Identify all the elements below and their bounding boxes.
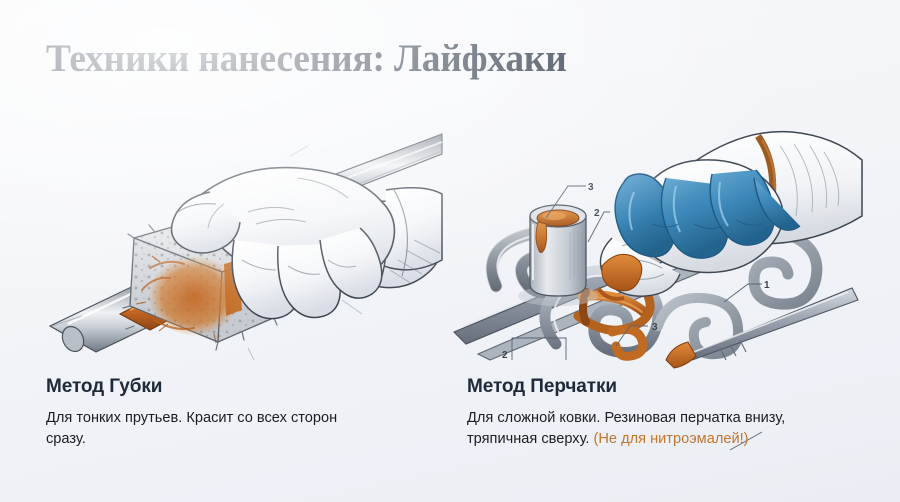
paint-can [518, 205, 598, 306]
slide-root: Техники нанесения: Лайфхаки [0, 0, 900, 502]
illustration-sponge-method [42, 120, 442, 360]
caption-body-glove: Для сложной ковки. Резиновая перчатка вн… [467, 408, 859, 451]
caption-glove-method: Метод Перчатки Для сложной ковки. Резино… [467, 377, 867, 451]
callout-3-bottom: 3 [652, 322, 658, 333]
callout-2-top: 2 [594, 208, 600, 219]
caption-warning-glove: (Не для нитроэмалей!) [594, 431, 749, 447]
gloved-hand-wiping [598, 132, 862, 299]
page-title: Техники нанесения: Лайфхаки [46, 36, 567, 81]
callout-2-bottom: 2 [502, 350, 508, 361]
caption-heading-sponge: Метод Губки [46, 377, 446, 398]
caption-body-sponge: Для тонких прутьев. Красит со всех сторо… [46, 408, 366, 451]
caption-sponge-method: Метод Губки Для тонких прутьев. Красит с… [46, 377, 446, 451]
sponge-method-drawing [42, 120, 442, 360]
caption-heading-glove: Метод Перчатки [467, 377, 867, 398]
illustration-glove-method: 3 2 1 3 2 [462, 120, 862, 360]
callout-3-top: 3 [588, 182, 594, 193]
callout-1: 1 [764, 280, 770, 291]
glove-method-drawing: 3 2 1 3 2 [462, 120, 862, 360]
